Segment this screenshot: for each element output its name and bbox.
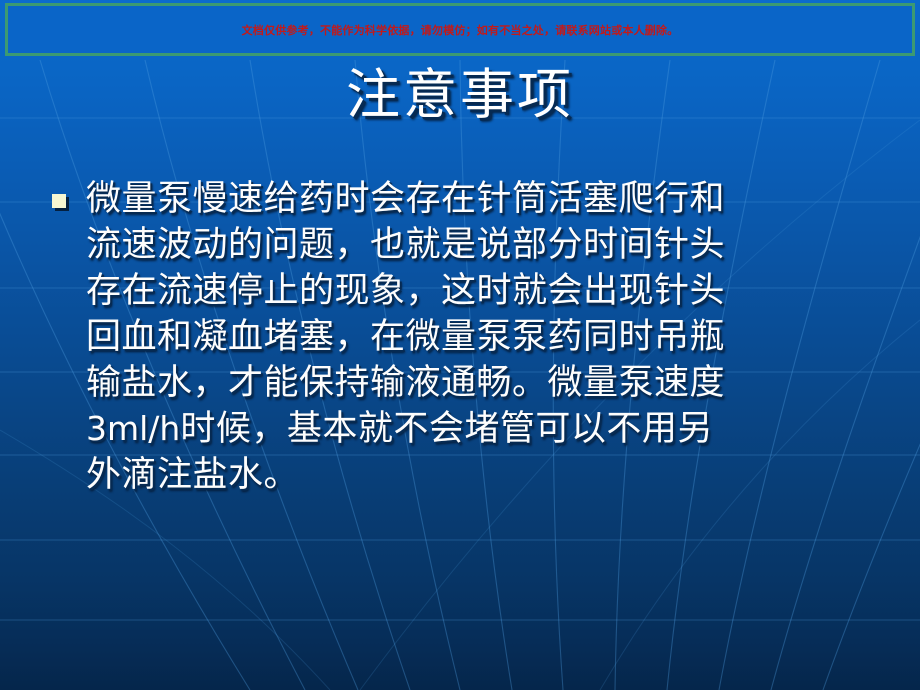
latin-run: 3ml/h xyxy=(86,409,180,448)
body-line: 3ml/h时候，基本就不会堵管可以不用另 xyxy=(86,406,882,452)
square-bullet-icon xyxy=(52,194,66,208)
slide-body: 微量泵慢速给药时会存在针筒活塞爬行和流速波动的问题，也就是说部分时间针头存在流速… xyxy=(52,176,882,498)
body-paragraph: 微量泵慢速给药时会存在针筒活塞爬行和流速波动的问题，也就是说部分时间针头存在流速… xyxy=(86,176,882,498)
slide-title-area: 注意事项 xyxy=(0,60,920,130)
disclaimer-banner: 文档仅供参考，不能作为科学依据，请勿模仿；如有不当之处，请联系网站或本人删除。 xyxy=(5,3,915,56)
presentation-slide: 文档仅供参考，不能作为科学依据，请勿模仿；如有不当之处，请联系网站或本人删除。 … xyxy=(0,0,920,690)
body-line: 输盐水，才能保持输液通畅。微量泵速度 xyxy=(86,360,882,406)
page-title: 注意事项 xyxy=(346,68,574,122)
body-line: 微量泵慢速给药时会存在针筒活塞爬行和 xyxy=(86,176,882,222)
body-line: 存在流速停止的现象，这时就会出现针头 xyxy=(86,268,882,314)
body-line: 回血和凝血堵塞，在微量泵泵药同时吊瓶 xyxy=(86,314,882,360)
disclaimer-text: 文档仅供参考，不能作为科学依据，请勿模仿；如有不当之处，请联系网站或本人删除。 xyxy=(242,22,679,38)
body-line: 流速波动的问题，也就是说部分时间针头 xyxy=(86,222,882,268)
body-line: 外滴注盐水。 xyxy=(86,452,882,498)
bullet-list-item: 微量泵慢速给药时会存在针筒活塞爬行和流速波动的问题，也就是说部分时间针头存在流速… xyxy=(52,176,882,498)
